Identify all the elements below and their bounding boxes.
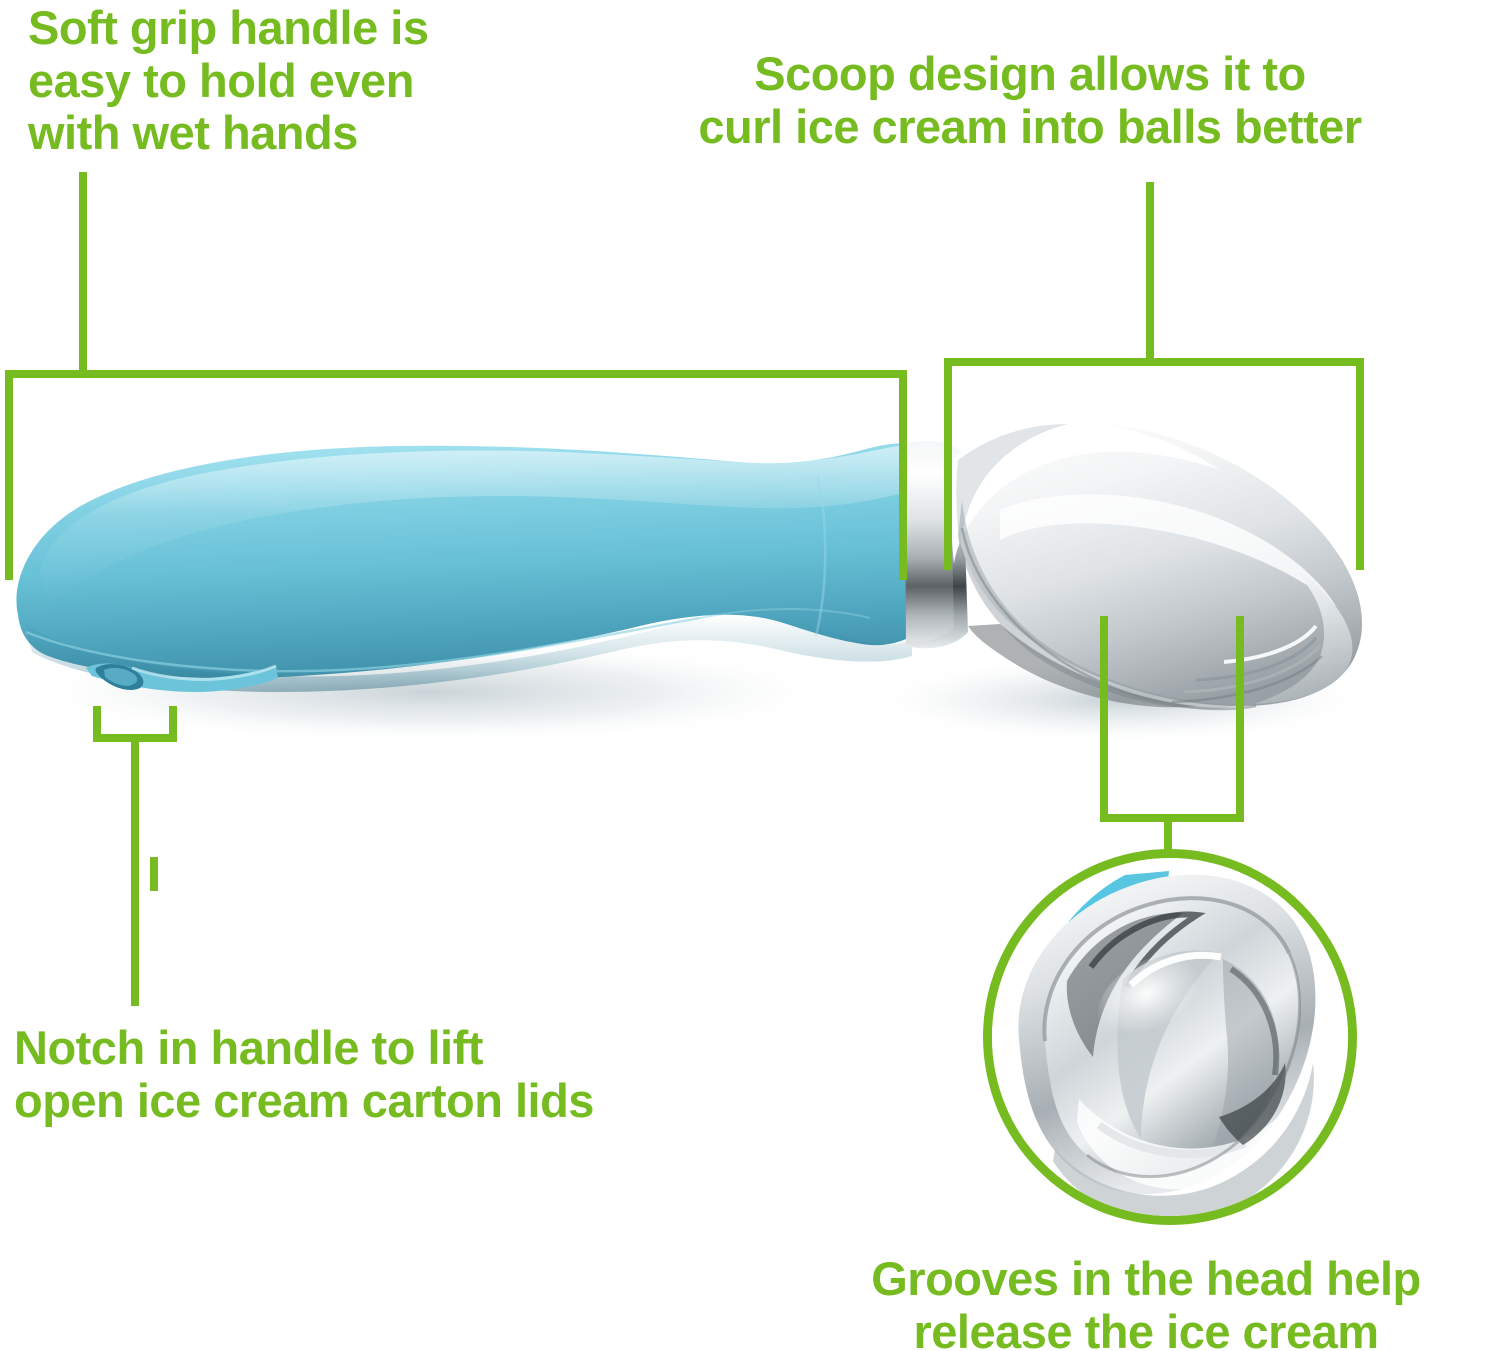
scoop-bracket-left (944, 358, 952, 570)
callout-label-handle: Soft grip handle is easy to hold even wi… (28, 2, 428, 160)
grooves-bracket-left (1100, 616, 1108, 822)
notch-bracket-right (169, 706, 177, 740)
notch-leader-dash (150, 857, 158, 891)
scoop-bracket-top (944, 358, 1364, 366)
handle-bracket-left (5, 370, 13, 580)
scoop-bracket-right (1356, 358, 1364, 570)
product-infographic: Soft grip handle is easy to hold even wi… (0, 0, 1500, 1351)
notch-leader-stem (131, 740, 139, 1006)
grooves-bracket-bottom (1100, 814, 1244, 822)
grooves-bracket-right (1236, 616, 1244, 822)
handle-leader-stem (79, 172, 87, 378)
ice-cream-scoop-illustration (0, 400, 1420, 780)
callout-label-notch: Notch in handle to lift open ice cream c… (14, 1022, 594, 1127)
callout-label-grooves: Grooves in the head help release the ice… (800, 1253, 1492, 1351)
notch-bracket-left (93, 706, 101, 740)
handle-bracket-top (5, 370, 907, 378)
scoop-head-closeup-circle (983, 849, 1357, 1225)
callout-label-scoop: Scoop design allows it to curl ice cream… (600, 48, 1460, 153)
scoop-leader-stem (1146, 182, 1154, 366)
handle-bracket-right (899, 370, 907, 580)
